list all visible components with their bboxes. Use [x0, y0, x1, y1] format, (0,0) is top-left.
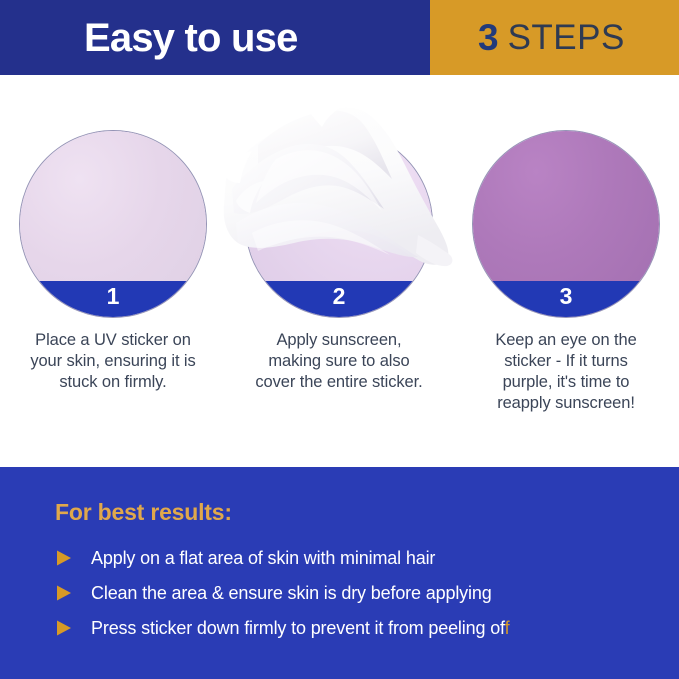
step-2-number-band: 2 [246, 281, 432, 317]
uv-sticker-unexposed-icon: 1 [19, 130, 207, 318]
header-banner: Easy to use 3 STEPS [0, 0, 679, 75]
step-1-caption: Place a UV sticker on your skin, ensurin… [6, 330, 220, 393]
step-1-number-band: 1 [20, 281, 206, 317]
steps-count: 3 [478, 19, 499, 56]
caption-line: cover the entire sticker. [232, 372, 446, 393]
step-2: 2 Apply sunscreen, making sure to also c… [226, 75, 452, 467]
step-3-circle-wrap: 3 [472, 130, 660, 318]
caption-line: stuck on firmly. [6, 372, 220, 393]
header-right-gold: 3 STEPS [430, 0, 679, 75]
steps-label: STEPS [508, 20, 625, 55]
steps-section: 1 Place a UV sticker on your skin, ensur… [0, 75, 679, 467]
page-title: Easy to use [84, 18, 298, 58]
header-left-navy: Easy to use [0, 0, 430, 75]
best-results-heading: For best results: [55, 501, 232, 524]
step-number: 1 [107, 285, 120, 308]
step-3: 3 Keep an eye on the sticker - If it tur… [453, 75, 679, 467]
list-item-text: Press sticker down firmly to prevent it … [91, 618, 505, 638]
triangle-right-icon [55, 584, 73, 602]
caption-line: your skin, ensuring it is [6, 351, 220, 372]
step-1-circle-wrap: 1 [19, 130, 207, 318]
step-3-number-band: 3 [473, 281, 659, 317]
step-number: 2 [333, 285, 346, 308]
list-item: Apply on a flat area of skin with minima… [55, 540, 655, 575]
step-1: 1 Place a UV sticker on your skin, ensur… [0, 75, 226, 467]
caption-line: Apply sunscreen, [232, 330, 446, 351]
best-results-panel: For best results: Apply on a flat area o… [0, 467, 679, 679]
list-item-label: Press sticker down firmly to prevent it … [91, 619, 509, 637]
uv-sticker-turned-purple-icon: 3 [472, 130, 660, 318]
list-item-label: Apply on a flat area of skin with minima… [91, 549, 435, 567]
best-results-list: Apply on a flat area of skin with minima… [55, 540, 655, 645]
list-item: Press sticker down firmly to prevent it … [55, 610, 655, 645]
list-item-label: Clean the area & ensure skin is dry befo… [91, 584, 492, 602]
list-item-text-tail: f [505, 618, 510, 638]
caption-line: Place a UV sticker on [6, 330, 220, 351]
step-2-caption: Apply sunscreen, making sure to also cov… [232, 330, 446, 393]
step-2-circle-wrap: 2 [245, 130, 433, 318]
step-3-caption: Keep an eye on the sticker - If it turns… [459, 330, 673, 414]
caption-line: sticker - If it turns [459, 351, 673, 372]
infographic-page: Easy to use 3 STEPS 1 Place a UV sticker… [0, 0, 679, 679]
caption-line: reapply sunscreen! [459, 393, 673, 414]
uv-sticker-with-sunscreen-icon: 2 [245, 130, 433, 318]
list-item: Clean the area & ensure skin is dry befo… [55, 575, 655, 610]
caption-line: Keep an eye on the [459, 330, 673, 351]
step-number: 3 [560, 285, 573, 308]
triangle-right-icon [55, 549, 73, 567]
triangle-right-icon [55, 619, 73, 637]
caption-line: purple, it's time to [459, 372, 673, 393]
caption-line: making sure to also [232, 351, 446, 372]
